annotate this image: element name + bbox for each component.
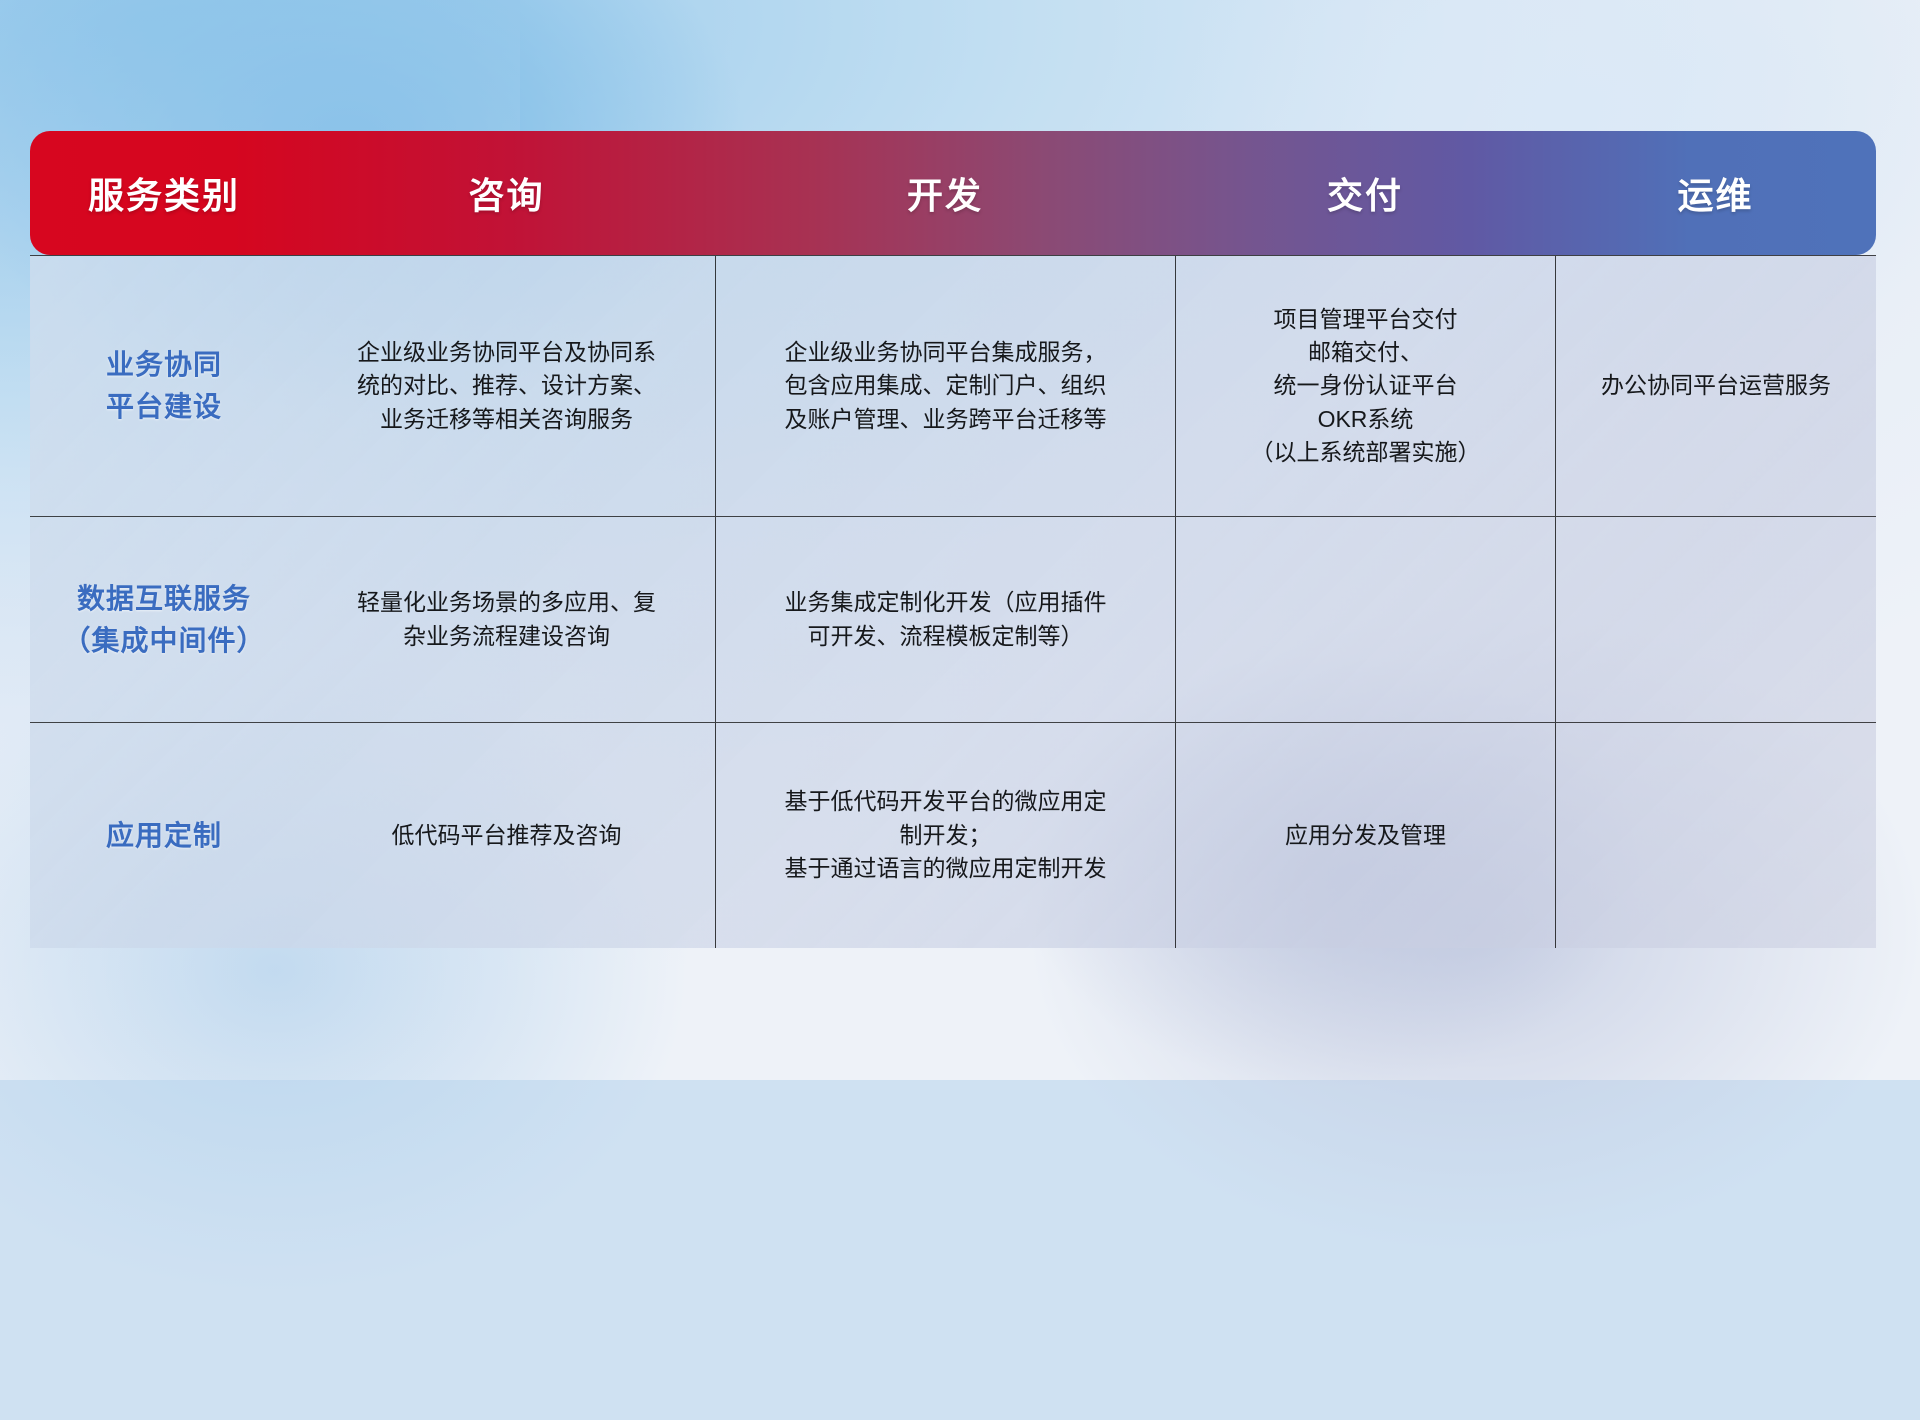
cell-development: 企业级业务协同平台集成服务， 包含应用集成、定制门户、组织 及账户管理、业务跨平…: [715, 256, 1175, 516]
row-category-label: 应用定制: [30, 723, 298, 948]
cell-development: 业务集成定制化开发（应用插件 可开发、流程模板定制等）: [715, 517, 1175, 722]
cell-delivery: 应用分发及管理: [1175, 723, 1555, 948]
cell-consulting: 低代码平台推荐及咨询: [298, 723, 715, 948]
row-category-label: 数据互联服务 （集成中间件）: [30, 517, 298, 722]
cell-operations: [1555, 723, 1876, 948]
column-header-consulting: 咨询: [298, 131, 715, 255]
cell-operations: 办公协同平台运营服务: [1555, 256, 1876, 516]
cell-delivery: [1175, 517, 1555, 722]
table-row: 应用定制 低代码平台推荐及咨询 基于低代码开发平台的微应用定 制开发； 基于通过…: [30, 722, 1876, 948]
column-header-development: 开发: [715, 131, 1175, 255]
cell-development: 基于低代码开发平台的微应用定 制开发； 基于通过语言的微应用定制开发: [715, 723, 1175, 948]
cell-consulting: 轻量化业务场景的多应用、复 杂业务流程建设咨询: [298, 517, 715, 722]
column-header-delivery: 交付: [1175, 131, 1555, 255]
table-body: 业务协同 平台建设 企业级业务协同平台及协同系 统的对比、推荐、设计方案、 业务…: [30, 255, 1876, 948]
table-row: 数据互联服务 （集成中间件） 轻量化业务场景的多应用、复 杂业务流程建设咨询 业…: [30, 516, 1876, 722]
service-matrix-table: 服务类别 咨询 开发 交付 运维 业务协同 平台建设 企业级业务协同平台及协同系…: [30, 131, 1876, 948]
column-header-category: 服务类别: [30, 131, 298, 255]
table-header-row: 服务类别 咨询 开发 交付 运维: [30, 131, 1876, 255]
cell-consulting: 企业级业务协同平台及协同系 统的对比、推荐、设计方案、 业务迁移等相关咨询服务: [298, 256, 715, 516]
cell-delivery: 项目管理平台交付 邮箱交付、 统一身份认证平台 OKR系统 （以上系统部署实施）: [1175, 256, 1555, 516]
cell-operations: [1555, 517, 1876, 722]
column-header-operations: 运维: [1555, 131, 1876, 255]
table-row: 业务协同 平台建设 企业级业务协同平台及协同系 统的对比、推荐、设计方案、 业务…: [30, 256, 1876, 516]
row-category-label: 业务协同 平台建设: [30, 256, 298, 516]
